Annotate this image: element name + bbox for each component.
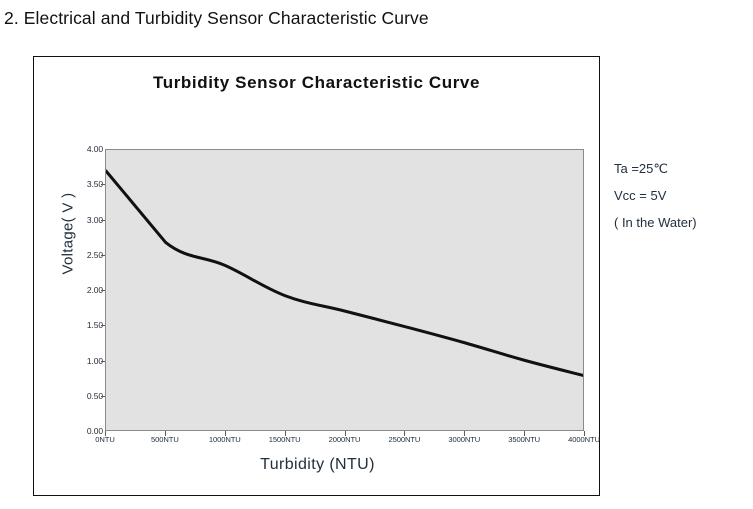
voltage-curve [106, 171, 583, 375]
section-heading: 2. Electrical and Turbidity Sensor Chara… [4, 8, 429, 29]
curve-svg [106, 150, 583, 430]
x-tick-label: 2000NTU [329, 435, 361, 444]
plot-area [105, 149, 584, 431]
figure-frame: Turbidity Sensor Characteristic Curve Vo… [33, 56, 600, 496]
chart-title: Turbidity Sensor Characteristic Curve [34, 73, 599, 93]
note-temperature: Ta =25℃ [614, 155, 749, 182]
x-tick-label: 3000NTU [448, 435, 480, 444]
chart-notes: Ta =25℃ Vcc = 5V ( In the Water) [614, 155, 749, 236]
x-tick-label: 500NTU [151, 435, 179, 444]
y-axis-tick-labels: 4.003.503.002.502.001.501.000.500.00 [67, 149, 103, 431]
note-condition: ( In the Water) [614, 209, 749, 236]
x-axis-tick-labels: 0NTU500NTU1000NTU1500NTU2000NTU2500NTU30… [105, 435, 584, 451]
x-tick-label: 3500NTU [508, 435, 540, 444]
x-tick-label: 1000NTU [209, 435, 241, 444]
x-tick-label: 1500NTU [269, 435, 301, 444]
x-axis-title: Turbidity (NTU) [34, 456, 601, 474]
x-tick-label: 2500NTU [388, 435, 420, 444]
x-tick-label: 4000NTU [568, 435, 600, 444]
note-supply-voltage: Vcc = 5V [614, 182, 749, 209]
x-tick-label: 0NTU [95, 435, 114, 444]
